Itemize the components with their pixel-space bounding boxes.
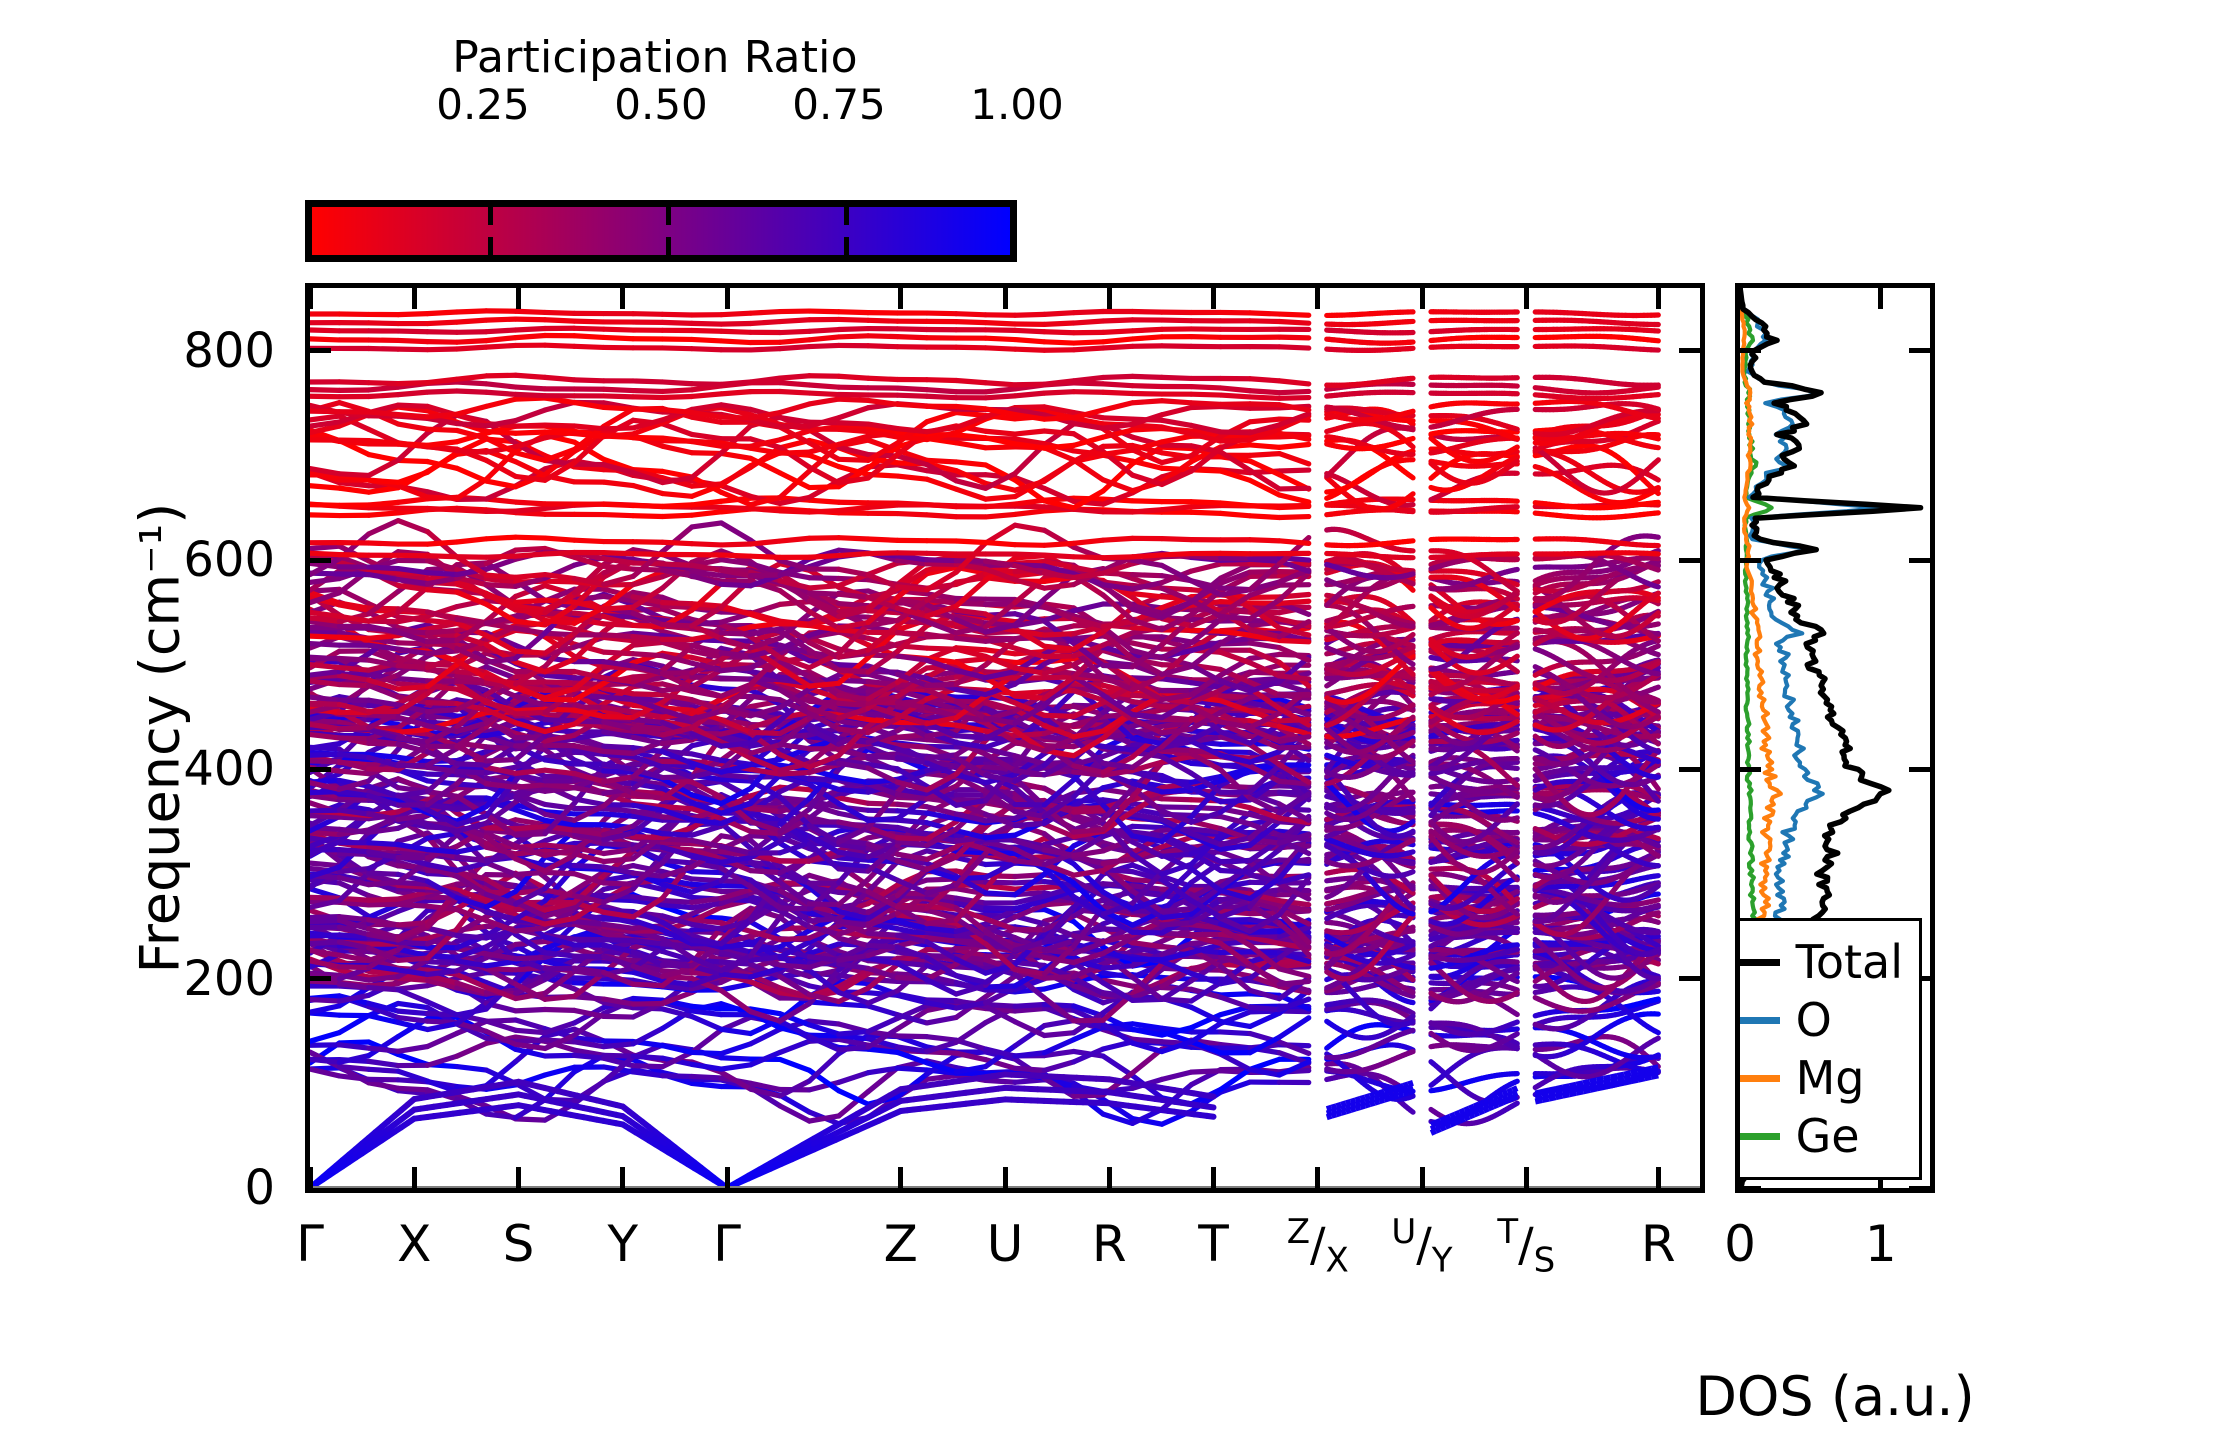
colorbar-tick-label: 0.25 (436, 80, 530, 129)
band-segment (839, 1032, 868, 1035)
band-segment (516, 1119, 545, 1120)
band-segment (369, 977, 398, 981)
band-segment (574, 939, 603, 940)
band-segment (1410, 1022, 1413, 1023)
band-segment (692, 1083, 721, 1086)
band-segment (898, 1036, 927, 1037)
band-segment (927, 1037, 956, 1041)
band-segment (369, 1083, 398, 1089)
band-segment (1044, 1004, 1073, 1005)
band-segment (1655, 963, 1659, 964)
band-segment (516, 957, 545, 958)
band-segment (369, 1048, 398, 1051)
band-segment (809, 1025, 838, 1034)
colorbar-tick-label: 1.00 (970, 80, 1064, 129)
band-segment (1410, 1096, 1413, 1097)
band-segment (898, 995, 927, 1002)
colorbar-tick-label: 0.50 (614, 80, 708, 129)
colorbar-tick (666, 207, 671, 225)
band-segment (1515, 1081, 1518, 1082)
band-segment (398, 1088, 427, 1090)
band-segment (1103, 966, 1132, 968)
band-segment (486, 969, 515, 970)
band-segment (1279, 1018, 1308, 1037)
band-segment (1221, 1032, 1250, 1034)
band-segment (545, 953, 574, 956)
band-segment (986, 1080, 1015, 1082)
band-segment (927, 1000, 956, 1001)
band-segment (927, 938, 956, 942)
band-segment (1515, 993, 1518, 994)
band-segment (1015, 1009, 1044, 1011)
band-segment (457, 1009, 486, 1015)
band-segment (369, 1069, 398, 1071)
band-segment (310, 1059, 339, 1062)
band-segment (1515, 1042, 1518, 1043)
band-segment (1515, 1034, 1518, 1035)
band-segment (1044, 977, 1073, 979)
band-segment (721, 1065, 750, 1069)
band-segment (516, 1009, 545, 1010)
band-segment (809, 1054, 838, 1081)
colorbar-tick (844, 237, 849, 255)
band-segment (1410, 1012, 1413, 1013)
band-segment (1410, 996, 1413, 997)
band-segment (1655, 999, 1659, 1000)
band-segment (574, 997, 603, 999)
band-segment (339, 1076, 368, 1079)
colorbar-tick (666, 237, 671, 255)
band-segment (633, 1004, 662, 1005)
band-segment (1515, 949, 1518, 950)
band-segment (721, 984, 750, 990)
band-segment (633, 941, 662, 944)
band-segment (398, 1003, 427, 1007)
band-segment (1515, 1022, 1518, 1023)
band-segment (398, 1018, 427, 1022)
band-segment (1410, 949, 1413, 950)
band-segment (1515, 973, 1518, 974)
band-segment (898, 1068, 927, 1070)
band-segment (1515, 968, 1518, 969)
band-segment (1221, 1021, 1250, 1026)
band-segment (927, 1075, 956, 1079)
band-segment (428, 971, 457, 975)
band-segment (1655, 921, 1659, 922)
band-segment (398, 1011, 427, 1013)
band-segment (1250, 1007, 1279, 1009)
band-segment (1250, 1013, 1279, 1026)
band-segment (1410, 1110, 1413, 1112)
band-segment (1103, 1056, 1132, 1075)
band-segment (1410, 955, 1413, 956)
band-segment (868, 933, 897, 935)
band-segment (545, 968, 574, 969)
colorbar-tick-label: 0.75 (792, 80, 886, 129)
band-segment (339, 1045, 368, 1048)
phonon-band-dos-figure: Participation Ratio 0.250.500.751.00 020… (0, 0, 2222, 1455)
band-structure-canvas (310, 288, 1700, 1188)
band-segment (809, 957, 838, 961)
band-segment (721, 974, 750, 977)
band-segment (369, 1061, 398, 1065)
band-segment (663, 1076, 692, 1077)
band-segment (545, 996, 574, 999)
band-segment (574, 1055, 603, 1058)
band-segment (721, 1058, 750, 1059)
band-segment (663, 965, 692, 966)
band-segment (1655, 940, 1659, 941)
band-segment (692, 1030, 721, 1052)
band-segment (428, 1024, 457, 1030)
band-segment (1191, 1071, 1220, 1072)
band-segment (398, 990, 427, 1002)
band-segment (310, 999, 339, 1001)
band-segment (1410, 978, 1413, 980)
band-segment (398, 986, 427, 989)
band-segment (457, 1043, 486, 1056)
colorbar-tick (844, 207, 849, 225)
colorbar-tick (488, 237, 493, 255)
band-segment (956, 1023, 985, 1043)
band-segment (310, 1033, 339, 1042)
band-segment (428, 1033, 457, 1046)
band-segment (1044, 1062, 1073, 1071)
band-segment (633, 984, 662, 985)
band-segment (839, 1073, 868, 1083)
band-segment (1655, 957, 1659, 960)
band-segment (486, 962, 515, 966)
band-segment (692, 1064, 721, 1069)
band-segment (574, 935, 603, 937)
band-segment (780, 965, 809, 967)
colorbar-title: Participation Ratio (305, 32, 1005, 83)
band-segment (692, 1016, 721, 1029)
band-segment (604, 1055, 633, 1056)
band-segment (398, 978, 427, 980)
band-segment (927, 1017, 956, 1023)
band-segment (1655, 1038, 1659, 1040)
band-segment (1515, 1048, 1518, 1049)
band-segment (1221, 994, 1250, 995)
band-segment (1279, 981, 1308, 984)
participation-ratio-colorbar (305, 200, 1017, 262)
band-segment (486, 1114, 515, 1118)
band-segment (1655, 1056, 1659, 1057)
band-segment (1221, 997, 1250, 1007)
band-segment (604, 1016, 633, 1017)
band-segment (1162, 1072, 1191, 1079)
band-segment (839, 1004, 868, 1006)
band-structure-plot (305, 283, 1705, 1193)
band-segment (1074, 1095, 1103, 1096)
band-segment (1410, 1052, 1413, 1053)
band-segment (339, 967, 368, 968)
band-segment (1015, 1053, 1044, 1056)
band-segment (545, 1055, 574, 1056)
band-segment (310, 1006, 339, 1012)
band-segment (1410, 1030, 1413, 1031)
band-segment (574, 956, 603, 957)
band-segment (516, 1020, 545, 1029)
band-segment (1410, 991, 1413, 992)
colorbar-tick-labels: 0.250.500.751.00 (305, 80, 1005, 130)
band-segment (1133, 1039, 1162, 1042)
band-segment (1515, 980, 1518, 981)
band-segment (1279, 969, 1308, 976)
band-segment (398, 1046, 427, 1051)
band-segment (868, 1049, 897, 1052)
band-segment (839, 1047, 868, 1050)
band-segment (604, 1044, 633, 1047)
band-segment (633, 1066, 662, 1067)
band-segment (633, 998, 662, 1000)
band-segment (780, 1059, 809, 1070)
band-segment (692, 1076, 721, 1077)
band-segment (721, 1044, 750, 1054)
band-segment (1655, 1031, 1659, 1033)
band-segment (339, 1067, 368, 1070)
band-segment (369, 983, 398, 985)
colorbar-tick (488, 207, 493, 225)
band-segment (633, 1056, 662, 1058)
band-segment (1133, 999, 1162, 1000)
band-segment (868, 946, 897, 948)
band-segment (1515, 1013, 1518, 1015)
band-segment (868, 980, 897, 982)
band-segment (1515, 1103, 1518, 1104)
band-segment (692, 1052, 721, 1053)
band-segment (692, 1006, 721, 1009)
band-segment (1044, 1033, 1073, 1036)
band-segment (369, 988, 398, 990)
band-segment (457, 1067, 486, 1071)
band-segment (751, 957, 780, 960)
band-segment (1044, 1021, 1073, 1026)
band-segment (604, 940, 633, 941)
band-segment (721, 1029, 750, 1033)
band-segment (692, 1011, 721, 1015)
band-segment (986, 986, 1015, 987)
band-segment (516, 1040, 545, 1042)
band-segment (516, 1030, 545, 1032)
band-segment (1015, 1004, 1044, 1006)
band-segment (1074, 1020, 1103, 1021)
band-segment (868, 1006, 897, 1015)
band-segment (1015, 1068, 1044, 1070)
band-segment (1015, 1080, 1044, 1083)
band-segment (1162, 999, 1191, 1001)
band-segment (1410, 1016, 1413, 1018)
band-segment (780, 1041, 809, 1052)
band-segment (1515, 928, 1518, 929)
band-segment (1515, 989, 1518, 990)
band-segment (545, 1009, 574, 1010)
